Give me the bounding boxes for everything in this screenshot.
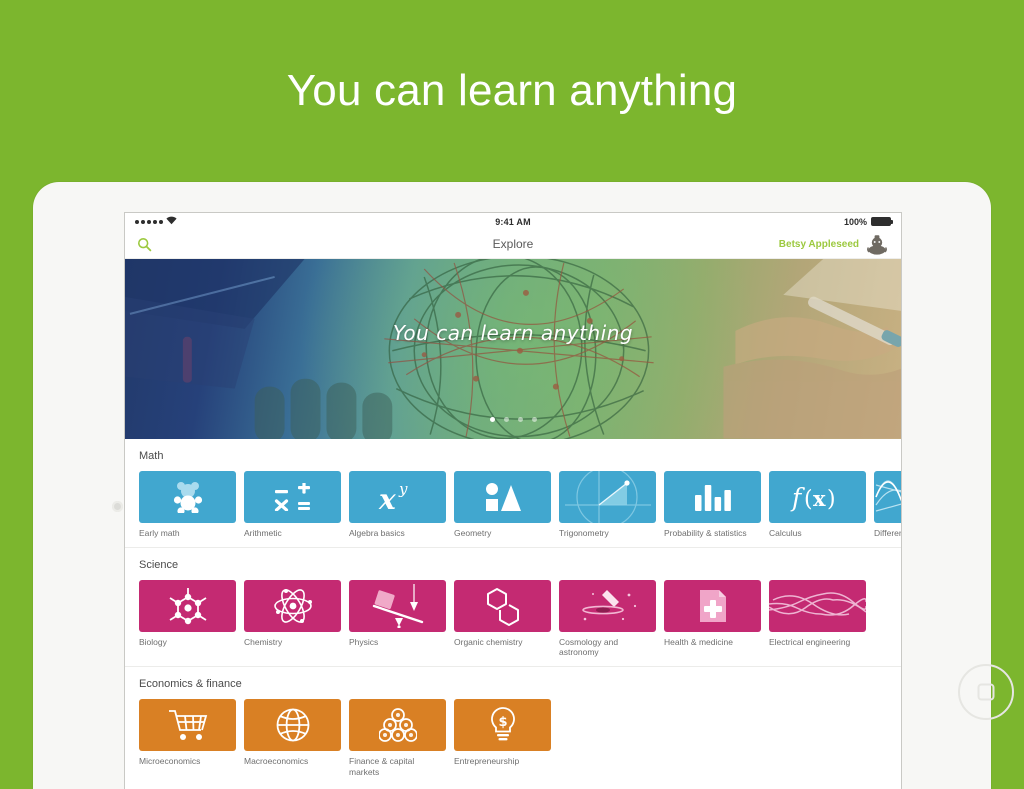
- front-camera-icon: [112, 501, 123, 512]
- carousel-dot[interactable]: [504, 417, 509, 422]
- tile-chemistry[interactable]: Chemistry: [244, 580, 341, 658]
- atom-icon: [244, 580, 341, 632]
- section-science: Science: [125, 548, 901, 667]
- svg-text:): ): [827, 487, 836, 512]
- tile-arithmetic[interactable]: Arithmetic: [244, 471, 341, 539]
- tile-entrepreneurship[interactable]: $ Entrepreneurship: [454, 699, 551, 777]
- user-avatar[interactable]: [865, 232, 889, 256]
- tile-label: Probability & statistics: [664, 528, 761, 539]
- medical-cross-icon: [664, 580, 761, 632]
- tile-label: Finance & capital markets: [349, 756, 446, 777]
- tile-label: Physics: [349, 637, 446, 648]
- svg-text:(: (: [804, 487, 813, 512]
- benzene-rings-icon: [454, 580, 551, 632]
- section-math: Math: [125, 439, 901, 548]
- user-name: Betsy Appleseed: [779, 239, 859, 250]
- tile-calculus[interactable]: f ( x ) Calculus: [769, 471, 866, 539]
- unit-circle-icon: [559, 471, 656, 523]
- tile-row: Microeconomics: [139, 699, 901, 777]
- tile-label: Biology: [139, 637, 236, 648]
- carousel-dot[interactable]: [490, 417, 495, 422]
- tile-physics[interactable]: Physics: [349, 580, 446, 658]
- section-title: Science: [139, 559, 901, 571]
- x-exponent-y-icon: x y: [349, 471, 446, 523]
- tile-label: Geometry: [454, 528, 551, 539]
- shapes-icon: [454, 471, 551, 523]
- shopping-cart-icon: [139, 699, 236, 751]
- home-button[interactable]: [958, 664, 1014, 720]
- bar-chart-icon: [664, 471, 761, 523]
- tile-label: Macroeconomics: [244, 756, 341, 767]
- battery-percent: 100%: [844, 217, 867, 227]
- tile-label: Early math: [139, 528, 236, 539]
- lightbulb-dollar-icon: $: [454, 699, 551, 751]
- carousel-dot[interactable]: [518, 417, 523, 422]
- tile-label: Algebra basics: [349, 528, 446, 539]
- globe-icon: [244, 699, 341, 751]
- svg-text:f: f: [790, 483, 805, 512]
- app-screen: 9:41 AM 100% Explore Betsy Appleseed: [124, 212, 902, 789]
- comet-icon: [559, 580, 656, 632]
- tile-label: Electrical engineering: [769, 637, 866, 648]
- tile-label: Calculus: [769, 528, 866, 539]
- tile-algebra-basics[interactable]: x y Algebra basics: [349, 471, 446, 539]
- wave-curve-icon: [874, 471, 902, 523]
- carousel-dot[interactable]: [532, 417, 537, 422]
- tile-label: Trigonometry: [559, 528, 656, 539]
- math-operators-icon: [244, 471, 341, 523]
- tile-label: Microeconomics: [139, 756, 236, 767]
- hero-caption: You can learn anything: [125, 321, 901, 345]
- lever-pendulum-icon: [349, 580, 446, 632]
- carousel-dots[interactable]: [125, 417, 901, 422]
- svg-text:y: y: [398, 481, 408, 498]
- tile-trigonometry[interactable]: Trigonometry: [559, 471, 656, 539]
- tile-cosmology-astronomy[interactable]: Cosmology and astronomy: [559, 580, 656, 658]
- hero-banner[interactable]: You can learn anything: [125, 259, 901, 439]
- teddy-bear-icon: [139, 471, 236, 523]
- tile-probability-statistics[interactable]: Probability & statistics: [664, 471, 761, 539]
- tile-geometry[interactable]: Geometry: [454, 471, 551, 539]
- molecule-icon: [139, 580, 236, 632]
- svg-text:x: x: [813, 486, 826, 511]
- tile-early-math[interactable]: Early math: [139, 471, 236, 539]
- app-navbar: Explore Betsy Appleseed: [125, 230, 901, 259]
- tile-label: Organic chemistry: [454, 637, 551, 648]
- user-menu[interactable]: Betsy Appleseed: [779, 232, 889, 256]
- section-title: Economics & finance: [139, 678, 901, 690]
- tile-finance-capital-markets[interactable]: Finance & capital markets: [349, 699, 446, 777]
- subject-list: Math: [125, 439, 901, 785]
- tile-label: Arithmetic: [244, 528, 341, 539]
- tile-label: Cosmology and astronomy: [559, 637, 656, 658]
- signal-waves-icon: [769, 580, 866, 632]
- tile-health-medicine[interactable]: Health & medicine: [664, 580, 761, 658]
- svg-text:$: $: [498, 715, 507, 730]
- section-title: Math: [139, 450, 901, 462]
- tile-macroeconomics[interactable]: Macroeconomics: [244, 699, 341, 777]
- tablet-device: 9:41 AM 100% Explore Betsy Appleseed: [33, 182, 991, 789]
- tile-row: Biology: [139, 580, 901, 658]
- function-fx-icon: f ( x ): [769, 471, 866, 523]
- battery-icon: [871, 217, 891, 226]
- section-economics-finance: Economics & finance: [125, 667, 901, 785]
- tile-label: Entrepreneurship: [454, 756, 551, 767]
- tile-organic-chemistry[interactable]: Organic chemistry: [454, 580, 551, 658]
- tile-row: Early math: [139, 471, 901, 539]
- tile-electrical-engineering[interactable]: Electrical engineering: [769, 580, 866, 658]
- coins-stack-icon: [349, 699, 446, 751]
- tile-label: Chemistry: [244, 637, 341, 648]
- svg-text:x: x: [378, 483, 396, 513]
- tile-label: Health & medicine: [664, 637, 761, 648]
- tile-microeconomics[interactable]: Microeconomics: [139, 699, 236, 777]
- tile-differential-equations[interactable]: Differential equations: [874, 471, 902, 539]
- hero-illustration: [125, 259, 901, 439]
- status-right: 100%: [844, 217, 891, 227]
- tile-label: Differential equations: [874, 528, 902, 539]
- page-title: You can learn anything: [0, 0, 1024, 182]
- status-time: 9:41 AM: [125, 217, 901, 227]
- status-bar: 9:41 AM 100%: [125, 213, 901, 230]
- tile-biology[interactable]: Biology: [139, 580, 236, 658]
